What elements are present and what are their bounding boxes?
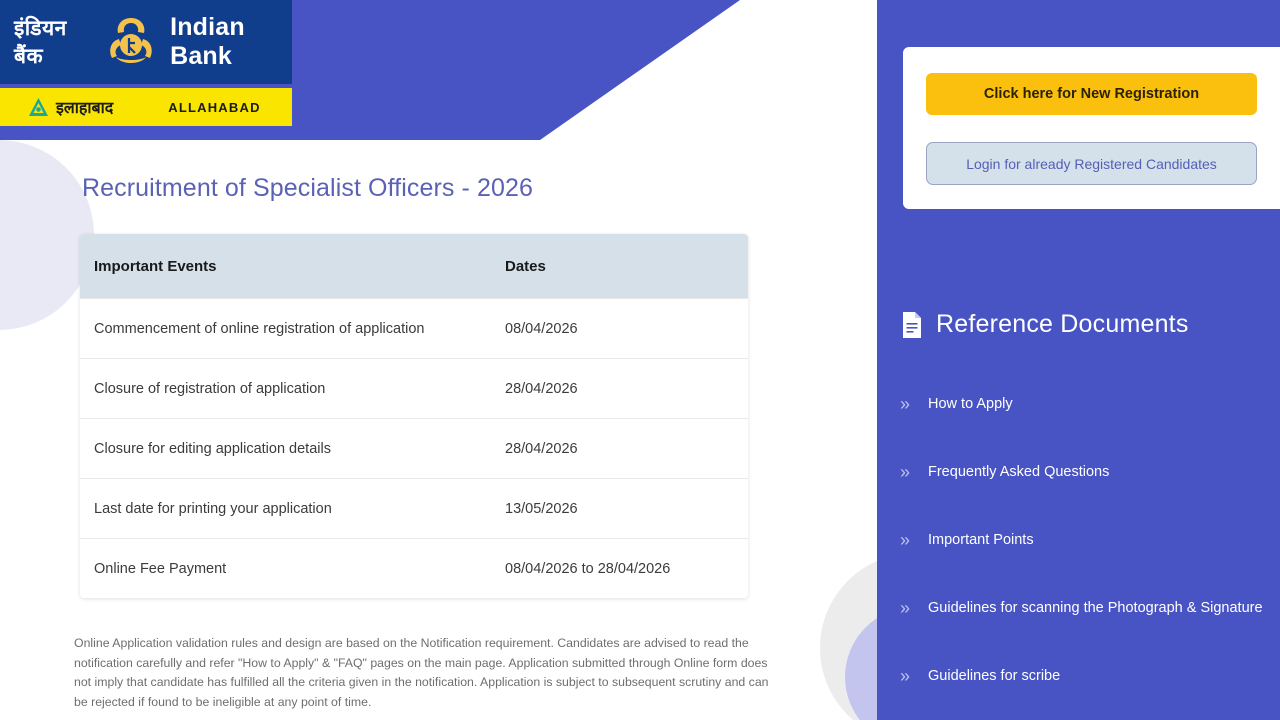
reference-link-label: How to Apply	[928, 396, 1013, 412]
table-row: Closure for editing application details …	[80, 418, 748, 478]
bank-name-hindi: इंडियन बैंक	[14, 14, 90, 70]
table-row: Commencement of online registration of a…	[80, 298, 748, 358]
reference-link-important-points[interactable]: » Important Points	[900, 506, 1280, 574]
auth-card: Click here for New Registration Login fo…	[903, 47, 1280, 209]
event-date: 28/04/2026	[505, 441, 748, 457]
column-header-events: Important Events	[80, 258, 505, 275]
event-name: Last date for printing your application	[80, 501, 505, 517]
bank-logo-primary: इंडियन बैंक Indian Bank	[0, 0, 292, 84]
event-name: Online Fee Payment	[80, 561, 505, 577]
indian-bank-emblem-icon	[102, 13, 160, 71]
double-chevron-right-icon: »	[900, 667, 922, 685]
reference-link-label: Guidelines for scanning the Photograph &…	[928, 600, 1263, 616]
bank-name-english: Indian Bank	[170, 13, 292, 71]
allahabad-name-hindi: इलाहाबाद	[56, 96, 113, 118]
column-header-dates: Dates	[505, 258, 748, 275]
table-row: Closure of registration of application 2…	[80, 358, 748, 418]
event-name: Commencement of online registration of a…	[80, 321, 505, 337]
important-events-table: Important Events Dates Commencement of o…	[80, 234, 748, 598]
reference-documents-title: Reference Documents	[936, 310, 1189, 339]
allahabad-band: इलाहाबाद ALLAHABAD	[0, 88, 292, 126]
double-chevron-right-icon: »	[900, 395, 922, 413]
page-title: Recruitment of Specialist Officers - 202…	[82, 174, 533, 203]
reference-link-scribe-guidelines[interactable]: » Guidelines for scribe	[900, 642, 1280, 710]
table-row: Online Fee Payment 08/04/2026 to 28/04/2…	[80, 538, 748, 598]
allahabad-triangle-icon	[28, 97, 49, 118]
reference-documents-list: » How to Apply » Frequently Asked Questi…	[900, 370, 1280, 710]
page-root: इंडियन बैंक Indian Bank	[0, 0, 1280, 720]
event-date: 08/04/2026	[505, 321, 748, 337]
event-date: 28/04/2026	[505, 381, 748, 397]
document-icon	[900, 311, 924, 339]
bank-logo: इंडियन बैंक Indian Bank	[0, 0, 292, 126]
reference-link-label: Important Points	[928, 532, 1034, 548]
double-chevron-right-icon: »	[900, 531, 922, 549]
event-name: Closure of registration of application	[80, 381, 505, 397]
reference-documents-heading: Reference Documents	[900, 310, 1189, 339]
right-sidebar: Click here for New Registration Login fo…	[877, 0, 1280, 720]
new-registration-button[interactable]: Click here for New Registration	[926, 73, 1257, 115]
table-row: Last date for printing your application …	[80, 478, 748, 538]
double-chevron-right-icon: »	[900, 599, 922, 617]
validation-note: Online Application validation rules and …	[74, 634, 774, 712]
reference-link-scanning-guidelines[interactable]: » Guidelines for scanning the Photograph…	[900, 574, 1280, 642]
table-header-row: Important Events Dates	[80, 234, 748, 298]
reference-link-label: Guidelines for scribe	[928, 668, 1060, 684]
reference-link-label: Frequently Asked Questions	[928, 464, 1109, 480]
reference-link-faq[interactable]: » Frequently Asked Questions	[900, 438, 1280, 506]
main-content: Recruitment of Specialist Officers - 202…	[0, 140, 878, 720]
event-name: Closure for editing application details	[80, 441, 505, 457]
event-date: 13/05/2026	[505, 501, 748, 517]
allahabad-name-english: ALLAHABAD	[168, 100, 260, 115]
reference-link-how-to-apply[interactable]: » How to Apply	[900, 370, 1280, 438]
double-chevron-right-icon: »	[900, 463, 922, 481]
event-date: 08/04/2026 to 28/04/2026	[505, 561, 748, 577]
registered-candidate-login-button[interactable]: Login for already Registered Candidates	[926, 142, 1257, 185]
